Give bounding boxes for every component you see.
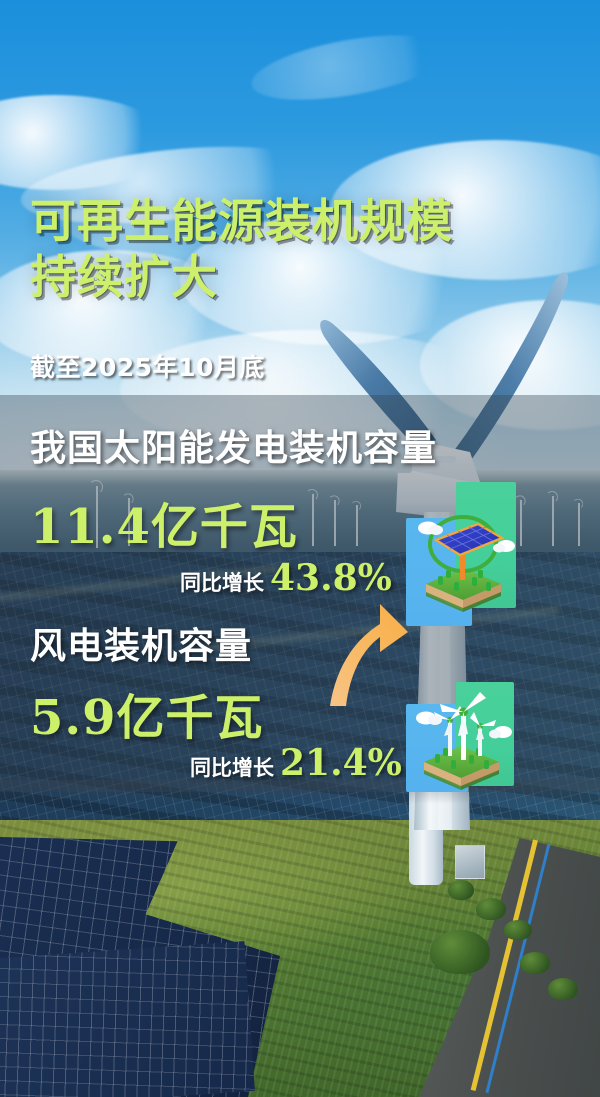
stat-growth-wind: 同比增长21.4% (190, 742, 402, 784)
growth-label-wind: 同比增长 (190, 756, 274, 780)
curved-up-arrow-icon (322, 590, 412, 710)
page-title: 可再生能源装机规模 持续扩大 (30, 193, 570, 305)
wind-turbine-illustration (404, 682, 519, 792)
arrow-shape (330, 604, 408, 706)
stat-value-solar: 11.4亿千瓦 (30, 487, 298, 557)
wind-turbine-icon (404, 682, 519, 792)
cloud-puff (489, 730, 501, 739)
stat-label-wind: 风电装机容量 (30, 617, 252, 669)
shrub (548, 978, 578, 1000)
stat-value-wind: 5.9亿千瓦 (30, 678, 264, 748)
cloud-puff (493, 544, 505, 553)
shrub (504, 920, 532, 940)
stat-label-solar: 我国太阳能发电装机容量 (30, 419, 437, 471)
solar-panel-illustration (406, 482, 521, 612)
footer-branding: 人民网 people.cn 数 读 中国 (0, 1006, 600, 1092)
growth-label-solar: 同比增长 (180, 571, 264, 595)
turbine-tower-base (409, 790, 443, 885)
cloud-puff (428, 715, 442, 725)
substation-equipment (455, 845, 485, 879)
solar-panel-icon (406, 482, 521, 612)
infographic-poster: 可再生能源装机规模 持续扩大 截至2025年10月底 我国太阳能发电装机容量 1… (0, 0, 600, 1097)
shrub (476, 898, 506, 920)
cloud-puff (429, 525, 443, 535)
date-note: 截至2025年10月底 (30, 348, 265, 384)
shrub (520, 952, 550, 974)
growth-value-wind: 21.4% (280, 742, 402, 784)
shrub (448, 880, 474, 900)
shrub (430, 930, 490, 974)
